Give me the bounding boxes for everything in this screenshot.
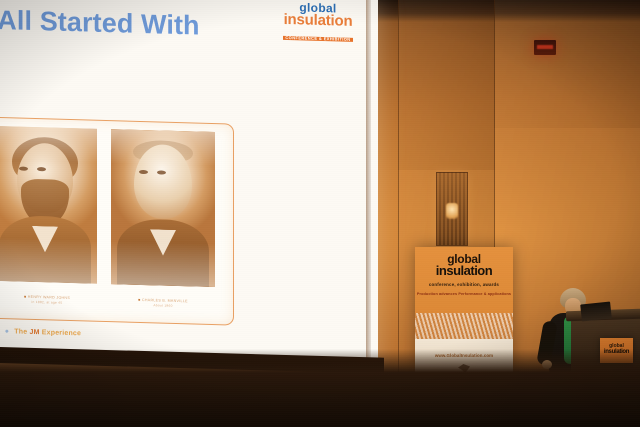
caption-detail: in 1882, at age 45 <box>0 299 97 307</box>
slide-title: lt All Started With <box>0 4 200 41</box>
caption-name: CHARLES B. MANVILLE <box>142 298 188 303</box>
laptop-on-podium <box>580 301 612 321</box>
slide-footer: Protect ● The JM Experience <box>0 327 81 337</box>
wall-panel-upper-left <box>398 0 495 170</box>
portrait-fade <box>0 126 97 284</box>
banner-line4: Production advances Performance & applic… <box>415 292 513 298</box>
banner-line2: insulation <box>415 264 513 277</box>
foreground-shadow <box>0 349 640 427</box>
wall-sconce-icon <box>436 172 468 246</box>
banner-middle-image <box>415 313 513 339</box>
projection-screen-right-edge <box>366 0 371 370</box>
exit-sign-glow <box>537 45 553 49</box>
wall-panel-upper-right <box>494 0 640 128</box>
banner-line3: conference, exhibition, awards <box>415 282 513 287</box>
slide-logo-line2: insulation <box>270 12 366 30</box>
portrait-henry-ward-johns <box>0 126 97 284</box>
slide-footer-separator-icon: ● <box>5 328 9 335</box>
sconce-lamp-glow <box>446 203 458 219</box>
slide-logo: global insulation CONFERENCE & EXHIBITIO… <box>270 1 366 46</box>
slide-footer-right-suffix: Experience <box>40 329 82 337</box>
exit-sign <box>534 40 556 55</box>
caption-bullet-icon: ■ <box>138 298 140 302</box>
caption-bullet-icon: ■ <box>24 295 26 299</box>
portrait-fade <box>111 129 215 287</box>
conference-presentation-photo: lt All Started With global insulation CO… <box>0 0 640 427</box>
slide-photo-frame: ■ HENRY WARD JOHNS in 1882, at age 45 ■ … <box>0 117 234 326</box>
portrait-charles-b-manville <box>111 129 215 287</box>
caption-detail: About 1860 <box>107 302 219 310</box>
slide-footer-right: The JM Experience <box>14 328 81 337</box>
portrait-caption-right: ■ CHARLES B. MANVILLE About 1860 <box>107 297 219 310</box>
presentation-slide: lt All Started With global insulation CO… <box>0 0 378 372</box>
slide-footer-brand: JM <box>29 329 39 336</box>
portrait-caption-left: ■ HENRY WARD JOHNS in 1882, at age 45 <box>0 294 97 307</box>
banner-top-section: global insulation conference, exhibition… <box>415 247 513 313</box>
slide-footer-right-prefix: The <box>14 328 29 335</box>
caption-name: HENRY WARD JOHNS <box>28 295 70 300</box>
slide-logo-line3: CONFERENCE & EXHIBITION <box>283 36 352 42</box>
